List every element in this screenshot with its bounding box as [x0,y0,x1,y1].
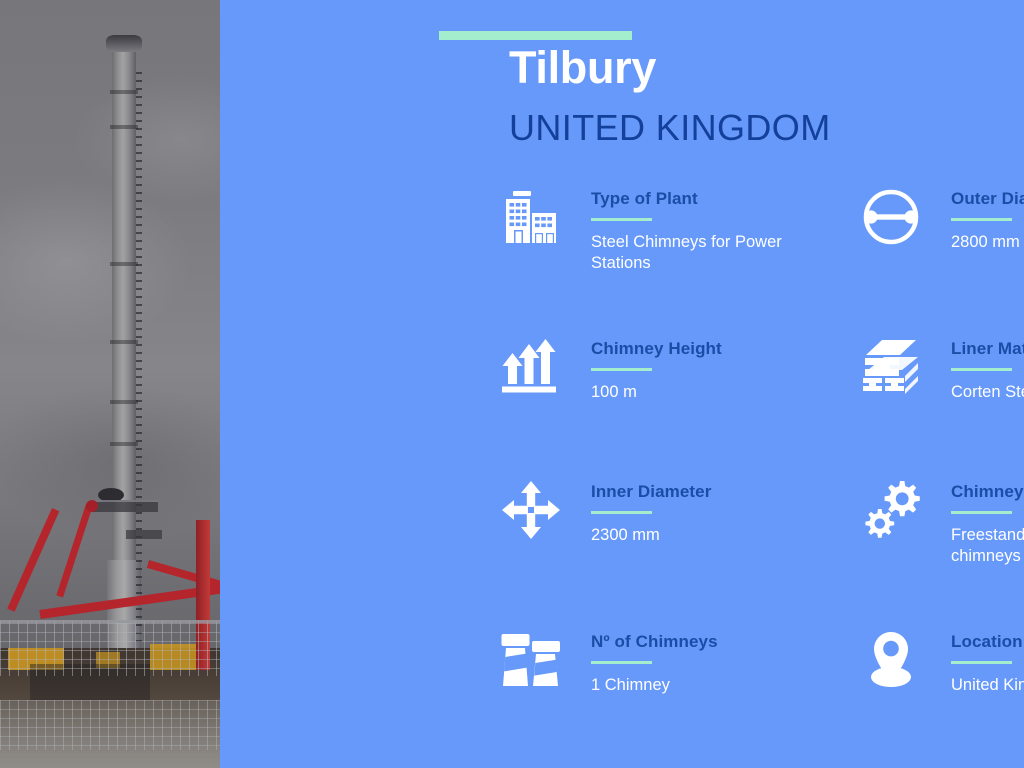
spec-label: Type of Plant [591,190,839,209]
buildings-icon [495,184,567,250]
spec-text: Type of Plant Steel Chimneys for Power S… [567,182,839,275]
spec-item-chimney-height: Chimney Height 100 m [495,332,855,475]
chimney-platform-lower [126,530,162,539]
chimney-band [110,400,138,404]
info-panel: Tilbury UNITED KINGDOM [220,0,1024,768]
spec-label: Nº of Chimneys [591,633,718,652]
spec-item-outer-diameter: Outer Diameter 2800 mm [855,182,1024,332]
chimney-band [110,262,138,266]
circle-diameter-icon [855,184,927,250]
spec-value: Steel Chimneys for Power Stations [591,232,839,276]
spec-label: Chimney Type [951,483,1024,502]
chimney-photo [0,0,220,768]
gears-icon [855,477,927,543]
page-title: Tilbury [509,44,656,93]
site-fence [0,620,220,676]
spec-label: Chimney Height [591,340,722,359]
spec-item-chimney-type: Chimney Type Freestanding double walled … [855,475,1024,625]
page-subtitle: UNITED KINGDOM [509,108,831,148]
spec-value: 1 Chimney [591,675,718,697]
label-underline [951,368,1012,371]
smokestacks-icon [495,627,567,693]
spec-label: Inner Diameter [591,483,711,502]
label-underline [591,368,652,371]
spec-label: Liner Material [951,340,1024,359]
spec-label: Outer Diameter [951,190,1024,209]
spec-text: Inner Diameter 2300 mm [567,475,711,546]
spec-value: 100 m [591,382,722,404]
four-way-arrows-icon [495,477,567,543]
spec-value: Corten Steel [951,382,1024,404]
up-arrows-icon [495,334,567,400]
spec-text: Chimney Type Freestanding double walled … [927,475,1024,568]
label-underline [951,661,1012,664]
chimney-band [110,90,138,94]
steel-beams-icon [855,334,927,400]
site-fence-foreground [0,700,220,750]
spec-item-type-of-plant: Type of Plant Steel Chimneys for Power S… [495,182,855,332]
spec-item-liner-material: Liner Material Corten Steel [855,332,1024,475]
spec-value: Freestanding double walled steel chimney… [951,525,1024,569]
infographic-slide: Tilbury UNITED KINGDOM [0,0,1024,768]
spec-grid: Type of Plant Steel Chimneys for Power S… [495,182,1024,696]
spec-label: Location [951,633,1024,652]
map-pin-icon [855,627,927,693]
label-underline [591,661,652,664]
spec-item-number-of-chimneys: Nº of Chimneys 1 Chimney [495,625,855,696]
chimney-ladder [136,72,142,652]
spec-value: 2300 mm [591,525,711,547]
spec-item-location: Location United Kingdom [855,625,1024,696]
spec-value: United Kingdom [951,675,1024,697]
spec-text: Liner Material Corten Steel [927,332,1024,403]
chimney-band [110,442,138,446]
label-underline [951,511,1012,514]
label-underline [591,218,652,221]
label-underline [591,511,652,514]
label-underline [951,218,1012,221]
spec-text: Chimney Height 100 m [567,332,722,403]
accent-bar [439,31,632,40]
spec-text: Nº of Chimneys 1 Chimney [567,625,718,696]
chimney-platform [92,500,158,512]
spec-value: 2800 mm [951,232,1024,254]
spec-text: Outer Diameter 2800 mm [927,182,1024,253]
chimney-band [110,340,138,344]
pump-boom-joint [86,500,98,512]
spec-text: Location United Kingdom [927,625,1024,696]
chimney-cap [106,35,142,52]
chimney-band [110,125,138,129]
spec-item-inner-diameter: Inner Diameter 2300 mm [495,475,855,625]
